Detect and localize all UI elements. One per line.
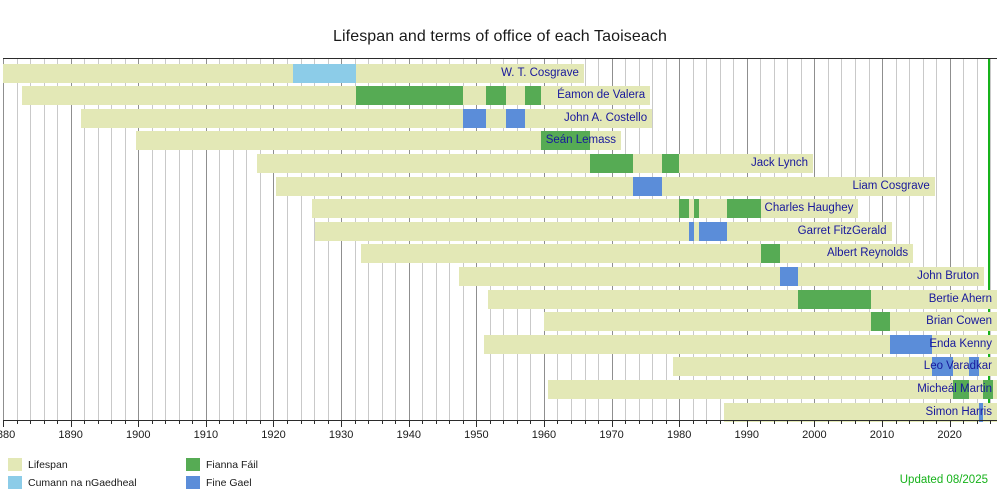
taoiseach-row[interactable]: Éamon de Valera	[3, 86, 997, 105]
axis-tick	[17, 420, 18, 424]
taoiseach-name-label: Simon Harris	[3, 403, 992, 422]
axis-tick	[192, 420, 193, 424]
axis-tick-label: 1920	[261, 429, 285, 441]
axis-tick	[801, 420, 802, 424]
updated-stamp: Updated 08/2025	[900, 474, 988, 486]
axis-tick	[787, 420, 788, 424]
axis-tick	[111, 420, 112, 424]
axis-tick-label: 1950	[464, 429, 488, 441]
axis-tick-label: 1900	[126, 429, 150, 441]
taoiseach-row[interactable]: Albert Reynolds	[3, 244, 997, 263]
axis-tick	[517, 420, 518, 424]
axis-tick	[179, 420, 180, 424]
axis-tick	[612, 420, 613, 427]
legend-label-fg: Fine Gael	[206, 476, 252, 491]
axis-tick-label: 2000	[802, 429, 826, 441]
axis-tick	[314, 420, 315, 424]
legend-swatch-cng	[8, 476, 22, 489]
axis-tick-label: 1960	[532, 429, 556, 441]
taoiseach-row[interactable]: Simon Harris	[3, 403, 997, 422]
axis-tick	[490, 420, 491, 424]
axis-tick-label: 1880	[0, 429, 15, 441]
chart-title: Lifespan and terms of office of each Tao…	[0, 28, 1000, 46]
legend-swatch-ff	[186, 458, 200, 471]
axis-tick-label: 1940	[396, 429, 420, 441]
axis-tick	[557, 420, 558, 424]
taoiseach-row[interactable]: Garret FitzGerald	[3, 222, 997, 241]
axis-tick	[382, 420, 383, 424]
axis-tick-label: 1890	[58, 429, 82, 441]
axis-tick	[720, 420, 721, 424]
legend-swatch-fg	[186, 476, 200, 489]
taoiseach-row[interactable]: Bertie Ahern	[3, 290, 997, 309]
axis-tick	[246, 420, 247, 424]
taoiseach-row[interactable]: Jack Lynch	[3, 154, 997, 173]
axis-tick	[869, 420, 870, 424]
axis-tick	[3, 420, 4, 427]
axis-tick	[503, 420, 504, 424]
axis-tick	[733, 420, 734, 424]
taoiseach-name-label: John A. Costello	[3, 109, 647, 128]
taoiseach-name-label: Éamon de Valera	[3, 86, 645, 105]
axis-tick	[679, 420, 680, 427]
axis-tick	[301, 420, 302, 424]
axis-tick	[476, 420, 477, 427]
axis-tick	[165, 420, 166, 424]
taoiseach-row[interactable]: Charles Haughey	[3, 199, 997, 218]
axis-tick	[950, 420, 951, 427]
axis-tick	[233, 420, 234, 424]
axis-tick	[760, 420, 761, 424]
axis-tick	[855, 420, 856, 424]
axis-tick	[30, 420, 31, 424]
axis-tick-label: 2010	[870, 429, 894, 441]
axis-tick	[44, 420, 45, 424]
axis-tick	[706, 420, 707, 424]
taoiseach-name-label: Enda Kenny	[3, 335, 992, 354]
axis-tick	[909, 420, 910, 424]
axis-tick	[990, 420, 991, 424]
legend-label-cng: Cumann na nGaedheal	[28, 476, 137, 491]
axis-tick	[530, 420, 531, 424]
axis-tick	[828, 420, 829, 424]
axis-tick	[463, 420, 464, 424]
axis-tick	[368, 420, 369, 424]
axis-tick-label: 1990	[735, 429, 759, 441]
axis-tick	[571, 420, 572, 424]
taoiseach-row[interactable]: John A. Costello	[3, 109, 997, 128]
taoiseach-name-label: Seán Lemass	[3, 131, 616, 150]
axis-tick	[963, 420, 964, 424]
legend-label-lifespan: Lifespan	[28, 458, 68, 473]
axis-tick	[395, 420, 396, 424]
axis-tick-label: 1980	[667, 429, 691, 441]
axis-tick	[896, 420, 897, 424]
taoiseach-name-label: Brian Cowen	[3, 312, 992, 331]
x-axis: 1880189019001910192019301940195019601970…	[3, 420, 997, 446]
axis-tick-label: 1970	[599, 429, 623, 441]
axis-tick	[219, 420, 220, 424]
axis-tick	[138, 420, 139, 427]
axis-tick	[287, 420, 288, 424]
axis-tick	[260, 420, 261, 424]
axis-tick	[693, 420, 694, 424]
axis-tick	[923, 420, 924, 424]
axis-tick	[774, 420, 775, 424]
axis-tick	[341, 420, 342, 427]
taoiseach-name-label: Charles Haughey	[3, 199, 853, 218]
axis-tick	[598, 420, 599, 424]
taoiseach-name-label: Bertie Ahern	[3, 290, 992, 309]
taoiseach-name-label: Albert Reynolds	[3, 244, 908, 263]
plot-area: W. T. CosgraveÉamon de ValeraJohn A. Cos…	[3, 58, 997, 420]
axis-tick	[84, 420, 85, 424]
taoiseach-row[interactable]: John Bruton	[3, 267, 997, 286]
axis-tick	[152, 420, 153, 424]
axis-tick	[882, 420, 883, 427]
axis-tick	[652, 420, 653, 424]
axis-tick	[814, 420, 815, 427]
axis-tick-label: 1930	[329, 429, 353, 441]
axis-tick	[98, 420, 99, 424]
taoiseach-row[interactable]: Enda Kenny	[3, 335, 997, 354]
legend-label-ff: Fianna Fáil	[206, 458, 258, 473]
taoiseach-row[interactable]: Seán Lemass	[3, 131, 997, 150]
taoiseach-name-label: Garret FitzGerald	[3, 222, 887, 241]
taoiseach-name-label: Liam Cosgrave	[3, 177, 930, 196]
axis-tick	[57, 420, 58, 424]
taoiseach-row[interactable]: Micheál Martin	[3, 380, 997, 399]
axis-tick	[71, 420, 72, 427]
taoiseach-name-label: John Bruton	[3, 267, 979, 286]
axis-tick	[449, 420, 450, 424]
axis-tick	[422, 420, 423, 424]
axis-tick	[409, 420, 410, 427]
chart-root: Lifespan and terms of office of each Tao…	[0, 0, 1000, 500]
taoiseach-row[interactable]: Liam Cosgrave	[3, 177, 997, 196]
axis-tick	[206, 420, 207, 427]
axis-tick	[585, 420, 586, 424]
axis-tick	[666, 420, 667, 424]
axis-tick	[977, 420, 978, 424]
legend-swatch-lifespan	[8, 458, 22, 471]
taoiseach-name-label: Leo Varadkar	[3, 357, 992, 376]
taoiseach-name-label: W. T. Cosgrave	[3, 64, 579, 83]
axis-tick	[625, 420, 626, 424]
axis-tick	[639, 420, 640, 424]
axis-tick	[544, 420, 545, 427]
axis-tick	[436, 420, 437, 424]
axis-tick	[125, 420, 126, 424]
axis-tick-label: 2020	[937, 429, 961, 441]
taoiseach-row[interactable]: Brian Cowen	[3, 312, 997, 331]
axis-tick	[273, 420, 274, 427]
taoiseach-name-label: Jack Lynch	[3, 154, 808, 173]
axis-tick	[355, 420, 356, 424]
axis-tick	[841, 420, 842, 424]
axis-tick	[747, 420, 748, 427]
axis-tick-label: 1910	[194, 429, 218, 441]
taoiseach-row[interactable]: W. T. Cosgrave	[3, 64, 997, 83]
legend: LifespanFianna FáilCumann na nGaedhealFi…	[8, 458, 428, 494]
taoiseach-name-label: Micheál Martin	[3, 380, 992, 399]
axis-tick	[936, 420, 937, 424]
axis-tick	[328, 420, 329, 424]
taoiseach-row[interactable]: Leo Varadkar	[3, 357, 997, 376]
